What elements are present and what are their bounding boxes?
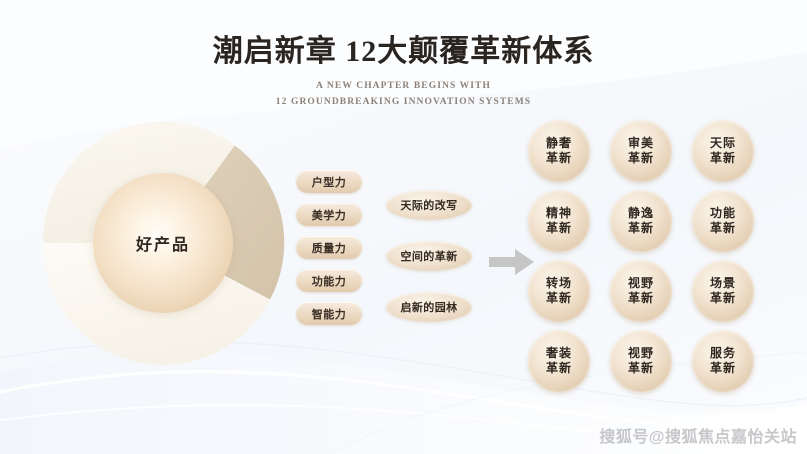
innovation-circle[interactable]: 奢装 革新 bbox=[528, 330, 590, 392]
innovation-circle[interactable]: 视野 革新 bbox=[610, 330, 672, 392]
innovation-circle-line2: 革新 bbox=[710, 361, 736, 376]
innovation-circle[interactable]: 转场 革新 bbox=[528, 260, 590, 322]
innovation-circle-line2: 革新 bbox=[546, 151, 572, 166]
innovation-circle-grid: 静奢 革新 审美 革新 天际 革新 精神 革新 静逸 革新 功能 革新 转场 革… bbox=[528, 120, 762, 400]
innovation-circle[interactable]: 功能 革新 bbox=[692, 190, 754, 252]
theme-ellipse-list: 天际的改写 空间的革新 启新的园林 bbox=[386, 190, 472, 343]
watermark: 搜狐号@搜狐焦点嘉怡关站 bbox=[599, 423, 797, 447]
innovation-circle[interactable]: 天际 革新 bbox=[692, 120, 754, 182]
donut-center-node: 好产品 bbox=[93, 173, 233, 313]
innovation-circle-line2: 革新 bbox=[628, 361, 654, 376]
innovation-circle-line1: 场景 bbox=[710, 276, 736, 291]
subtitle-line-2: 12 GROUNDBREAKING INNOVATION SYSTEMS bbox=[0, 95, 807, 111]
innovation-circle[interactable]: 精神 革新 bbox=[528, 190, 590, 252]
subtitle-line-1: A NEW CHAPTER BEGINS WITH bbox=[0, 79, 807, 95]
capability-pill[interactable]: 户型力 bbox=[296, 170, 362, 193]
innovation-circle-line2: 革新 bbox=[710, 291, 736, 306]
innovation-circle[interactable]: 审美 革新 bbox=[610, 120, 672, 182]
donut-center-label: 好产品 bbox=[136, 231, 190, 255]
capability-pill-list: 户型力 美学力 质量力 功能力 智能力 bbox=[296, 170, 362, 335]
innovation-circle-line1: 视野 bbox=[628, 346, 654, 361]
innovation-circle[interactable]: 场景 革新 bbox=[692, 260, 754, 322]
innovation-circle-line2: 革新 bbox=[710, 221, 736, 236]
innovation-circle[interactable]: 静逸 革新 bbox=[610, 190, 672, 252]
innovation-circle-line1: 审美 bbox=[628, 136, 654, 151]
slide-canvas: 潮启新章 12大颠覆革新体系 A NEW CHAPTER BEGINS WITH… bbox=[0, 0, 807, 454]
capability-pill[interactable]: 质量力 bbox=[296, 236, 362, 259]
innovation-circle-line2: 革新 bbox=[628, 151, 654, 166]
innovation-circle-line1: 精神 bbox=[546, 206, 572, 221]
capability-pill[interactable]: 智能力 bbox=[296, 302, 362, 325]
innovation-circle-line1: 静奢 bbox=[546, 136, 572, 151]
theme-ellipse[interactable]: 天际的改写 bbox=[386, 190, 472, 220]
donut-diagram: 好产品 bbox=[38, 118, 288, 368]
page-subtitle: A NEW CHAPTER BEGINS WITH 12 GROUNDBREAK… bbox=[0, 79, 807, 110]
innovation-circle-line1: 天际 bbox=[710, 136, 736, 151]
innovation-circle-line1: 奢装 bbox=[546, 346, 572, 361]
innovation-circle-line1: 转场 bbox=[546, 276, 572, 291]
theme-ellipse[interactable]: 启新的园林 bbox=[386, 292, 472, 322]
theme-ellipse[interactable]: 空间的革新 bbox=[386, 241, 472, 271]
innovation-circle-line2: 革新 bbox=[710, 151, 736, 166]
innovation-circle-line2: 革新 bbox=[628, 221, 654, 236]
innovation-circle-line2: 革新 bbox=[546, 221, 572, 236]
title-block: 潮启新章 12大颠覆革新体系 A NEW CHAPTER BEGINS WITH… bbox=[0, 34, 807, 110]
innovation-circle-line2: 革新 bbox=[546, 361, 572, 376]
innovation-circle-line2: 革新 bbox=[628, 291, 654, 306]
innovation-circle[interactable]: 静奢 革新 bbox=[528, 120, 590, 182]
innovation-circle[interactable]: 服务 革新 bbox=[692, 330, 754, 392]
innovation-circle-line1: 功能 bbox=[710, 206, 736, 221]
innovation-circle-line1: 静逸 bbox=[628, 206, 654, 221]
page-title: 潮启新章 12大颠覆革新体系 bbox=[0, 34, 807, 70]
innovation-circle[interactable]: 视野 革新 bbox=[610, 260, 672, 322]
innovation-circle-line2: 革新 bbox=[546, 291, 572, 306]
capability-pill[interactable]: 功能力 bbox=[296, 269, 362, 292]
innovation-circle-line1: 服务 bbox=[710, 346, 736, 361]
innovation-circle-line1: 视野 bbox=[628, 276, 654, 291]
capability-pill[interactable]: 美学力 bbox=[296, 203, 362, 226]
